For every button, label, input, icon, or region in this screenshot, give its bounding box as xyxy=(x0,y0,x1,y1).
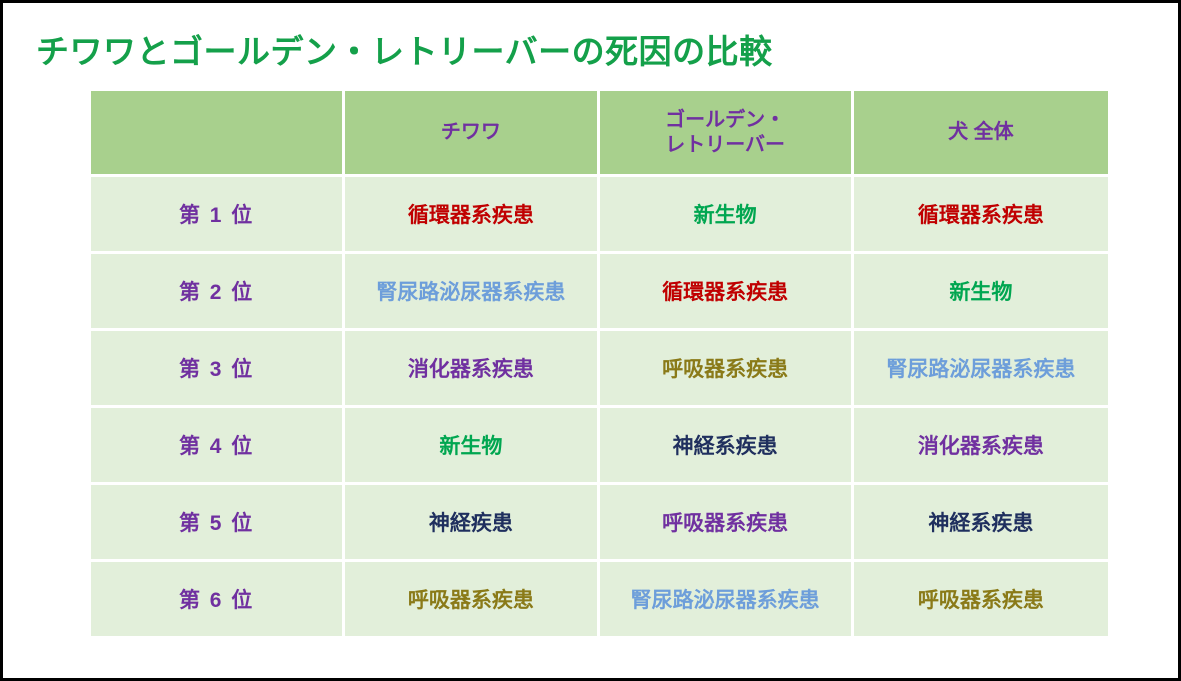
chihuahua-cause: 新生物 xyxy=(345,408,599,485)
golden-retriever-cause: 神経系疾患 xyxy=(600,408,854,485)
table-row: 第 6 位 呼吸器系疾患 腎尿路泌尿器系疾患 呼吸器系疾患 xyxy=(91,562,1108,636)
all-dogs-cause: 呼吸器系疾患 xyxy=(854,562,1108,636)
chihuahua-cause: 腎尿路泌尿器系疾患 xyxy=(345,254,599,331)
table-body: 第 1 位 循環器系疾患 新生物 循環器系疾患 第 2 位 腎尿路泌尿器系疾患 … xyxy=(91,177,1108,636)
all-dogs-cause: 腎尿路泌尿器系疾患 xyxy=(854,331,1108,408)
chihuahua-header: チワワ xyxy=(345,91,599,177)
page-title: チワワとゴールデン・レトリーバーの死因の比較 xyxy=(36,25,773,73)
rank-label: 第 5 位 xyxy=(91,485,345,562)
table-row: 第 2 位 腎尿路泌尿器系疾患 循環器系疾患 新生物 xyxy=(91,254,1108,331)
golden-retriever-header-line1: ゴールデン・ xyxy=(600,108,851,133)
golden-retriever-cause: 新生物 xyxy=(600,177,854,254)
table-header-row: チワワ ゴールデン・ レトリーバー 犬 全体 xyxy=(91,91,1108,177)
rank-label: 第 1 位 xyxy=(91,177,345,254)
rank-label: 第 3 位 xyxy=(91,331,345,408)
table-row: 第 3 位 消化器系疾患 呼吸器系疾患 腎尿路泌尿器系疾患 xyxy=(91,331,1108,408)
golden-retriever-header-line2: レトリーバー xyxy=(600,133,851,158)
all-dogs-cause: 神経系疾患 xyxy=(854,485,1108,562)
all-dogs-header: 犬 全体 xyxy=(854,91,1108,177)
all-dogs-cause: 循環器系疾患 xyxy=(854,177,1108,254)
all-dogs-cause: 消化器系疾患 xyxy=(854,408,1108,485)
golden-retriever-cause: 循環器系疾患 xyxy=(600,254,854,331)
chihuahua-cause: 呼吸器系疾患 xyxy=(345,562,599,636)
slide-canvas: チワワとゴールデン・レトリーバーの死因の比較 チワワ ゴールデン・ レトリーバー… xyxy=(0,0,1181,681)
rank-label: 第 6 位 xyxy=(91,562,345,636)
cause-of-death-table: チワワ ゴールデン・ レトリーバー 犬 全体 第 1 位 循環器系疾患 新生物 … xyxy=(91,91,1108,636)
rank-label: 第 2 位 xyxy=(91,254,345,331)
chihuahua-cause: 循環器系疾患 xyxy=(345,177,599,254)
rank-header xyxy=(91,91,345,177)
golden-retriever-cause: 呼吸器系疾患 xyxy=(600,331,854,408)
all-dogs-cause: 新生物 xyxy=(854,254,1108,331)
table-row: 第 1 位 循環器系疾患 新生物 循環器系疾患 xyxy=(91,177,1108,254)
golden-retriever-header: ゴールデン・ レトリーバー xyxy=(600,91,854,177)
golden-retriever-cause: 腎尿路泌尿器系疾患 xyxy=(600,562,854,636)
chihuahua-cause: 消化器系疾患 xyxy=(345,331,599,408)
table-row: 第 4 位 新生物 神経系疾患 消化器系疾患 xyxy=(91,408,1108,485)
chihuahua-cause: 神経疾患 xyxy=(345,485,599,562)
table-header: チワワ ゴールデン・ レトリーバー 犬 全体 xyxy=(91,91,1108,177)
table-row: 第 5 位 神経疾患 呼吸器系疾患 神経系疾患 xyxy=(91,485,1108,562)
golden-retriever-cause: 呼吸器系疾患 xyxy=(600,485,854,562)
rank-label: 第 4 位 xyxy=(91,408,345,485)
